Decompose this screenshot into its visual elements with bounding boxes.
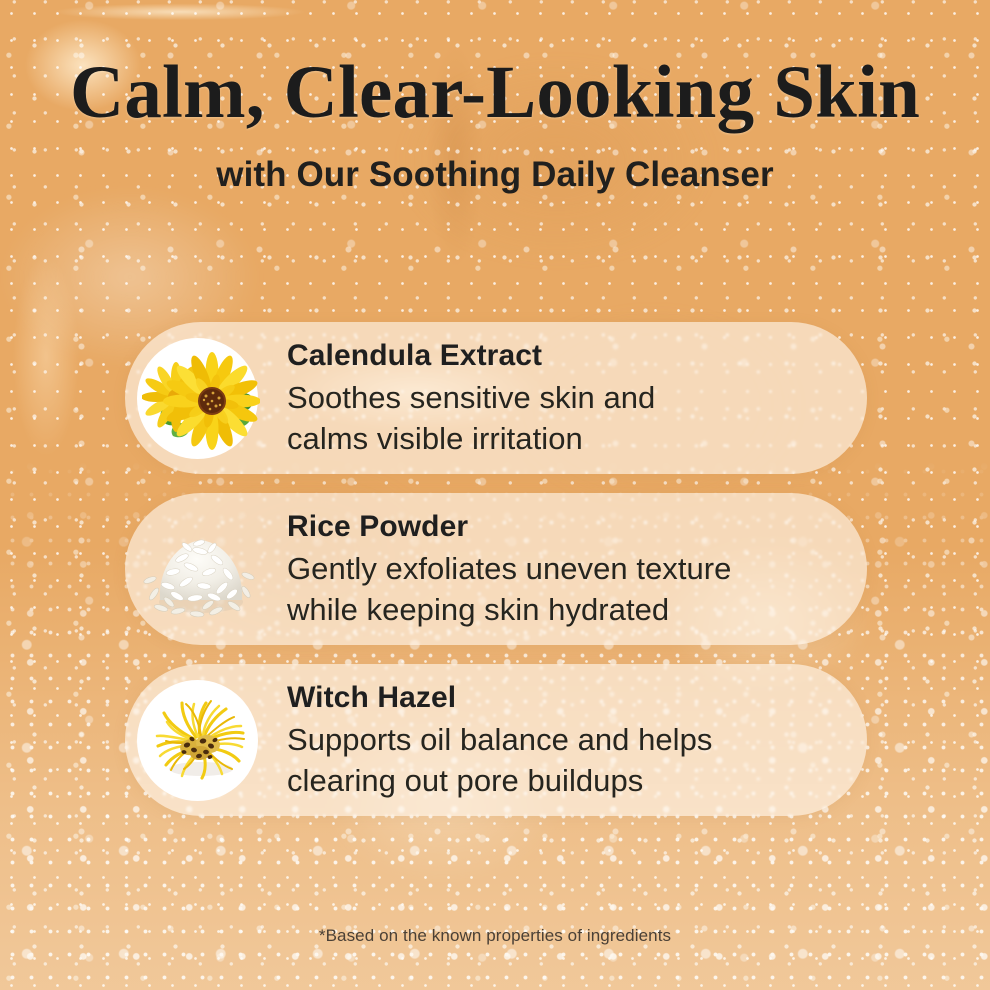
desc-line-2: clearing out pore buildups [287,760,712,801]
ingredient-text: Rice Powder Gently exfoliates uneven tex… [277,509,755,630]
witch-hazel-flower-icon [142,681,260,799]
desc-line-1: Soothes sensitive skin and [287,377,655,418]
ingredient-media-witch-hazel [125,664,277,816]
ingredient-description: Soothes sensitive skin and calms visible… [287,377,655,459]
ingredient-card-witch-hazel[interactable]: Witch Hazel Supports oil balance and hel… [125,664,867,816]
rice-grains-icon [142,510,260,628]
page-title: Calm, Clear-Looking Skin [0,52,990,134]
ingredient-name: Witch Hazel [287,680,712,716]
infographic-canvas: Calm, Clear-Looking Skin with Our Soothi… [0,0,990,990]
ingredient-media-calendula [125,322,277,474]
ingredient-text: Witch Hazel Supports oil balance and hel… [277,680,736,801]
ingredient-list: Calendula Extract Soothes sensitive skin… [125,322,867,835]
desc-line-2: calms visible irritation [287,418,655,459]
page-subtitle: with Our Soothing Daily Cleanser [0,154,990,196]
ingredient-media-rice-powder [125,493,277,645]
desc-line-2: while keeping skin hydrated [287,589,731,630]
ingredient-description: Supports oil balance and helps clearing … [287,719,712,801]
header: Calm, Clear-Looking Skin with Our Soothi… [0,52,990,196]
ingredient-text: Calendula Extract Soothes sensitive skin… [277,338,679,459]
ingredient-card-calendula[interactable]: Calendula Extract Soothes sensitive skin… [125,322,867,474]
ingredient-name: Rice Powder [287,509,731,545]
desc-line-1: Supports oil balance and helps [287,719,712,760]
ingredient-name: Calendula Extract [287,338,655,374]
ingredient-card-rice-powder[interactable]: Rice Powder Gently exfoliates uneven tex… [125,493,867,645]
ingredient-description: Gently exfoliates uneven texture while k… [287,548,731,630]
desc-line-1: Gently exfoliates uneven texture [287,548,731,589]
footnote-disclaimer: *Based on the known properties of ingred… [0,926,990,946]
calendula-flower-icon [142,339,260,457]
